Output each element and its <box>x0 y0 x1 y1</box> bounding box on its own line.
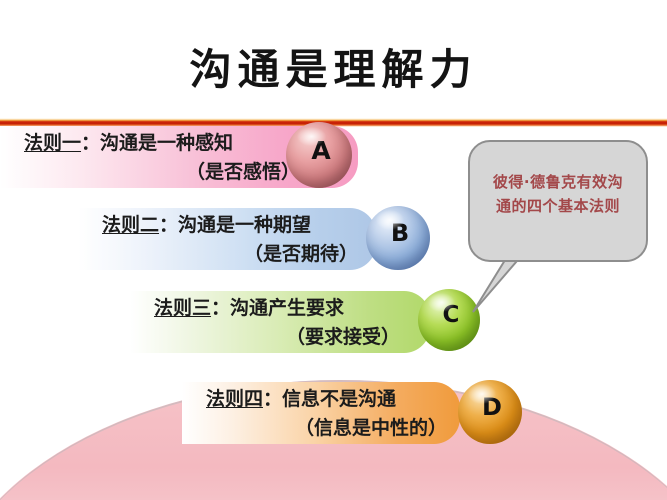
rule-sub-3: （要求接受） <box>154 323 404 352</box>
rule-statement-1: 法则一：沟通是一种感知 <box>24 129 304 158</box>
rule-statement-3: 法则三：沟通产生要求 <box>154 294 404 323</box>
rule-body-2: 沟通是一种期望 <box>178 214 311 236</box>
rule-label-2: 法则二 <box>102 214 159 236</box>
rule-sub-1: （是否感悟） <box>24 158 304 187</box>
sphere-d-letter: D <box>482 393 502 421</box>
rule-row-2: 法则二：沟通是一种期望 （是否期待） <box>78 208 378 270</box>
rule-sub-4: （信息是中性的） <box>206 414 451 443</box>
rule-text-2: 法则二：沟通是一种期望 （是否期待） <box>78 208 378 270</box>
rule-separator-2: ： <box>159 214 178 236</box>
rule-separator-4: ： <box>263 388 282 410</box>
rule-sub-2: （是否期待） <box>102 240 362 269</box>
rule-row-3: 法则三：沟通产生要求 （要求接受） <box>130 291 430 353</box>
callout-line-1: 彼得·德鲁克有效沟 <box>470 170 646 194</box>
rule-body-1: 沟通是一种感知 <box>100 132 233 154</box>
rule-statement-4: 法则四：信息不是沟通 <box>206 385 451 414</box>
rule-label-3: 法则三 <box>154 297 211 319</box>
rule-row-4: 法则四：信息不是沟通 （信息是中性的） <box>182 382 462 444</box>
rule-label-1: 法则一 <box>24 132 81 154</box>
sphere-a: A <box>286 122 352 188</box>
rule-separator-3: ： <box>211 297 230 319</box>
callout-text: 彼得·德鲁克有效沟 通的四个基本法则 <box>470 170 646 218</box>
slide-title: 沟通是理解力 <box>0 36 667 97</box>
sphere-d: D <box>458 380 522 444</box>
sphere-b: B <box>366 206 430 270</box>
rule-text-4: 法则四：信息不是沟通 （信息是中性的） <box>182 382 467 444</box>
slide-canvas: 沟通是理解力 法则一：沟通是一种感知 （是否感悟） A 法则二：沟通是一种期望 … <box>0 0 667 500</box>
sphere-b-letter: B <box>391 219 409 247</box>
callout-line-2: 通的四个基本法则 <box>470 194 646 218</box>
rule-body-3: 沟通产生要求 <box>230 297 344 319</box>
rule-text-3: 法则三：沟通产生要求 （要求接受） <box>130 291 420 353</box>
rule-separator-1: ： <box>81 132 100 154</box>
rule-statement-2: 法则二：沟通是一种期望 <box>102 211 362 240</box>
callout-box: 彼得·德鲁克有效沟 通的四个基本法则 <box>468 140 648 262</box>
rule-text-1: 法则一：沟通是一种感知 （是否感悟） <box>0 126 320 188</box>
sphere-a-letter: A <box>311 136 330 165</box>
rule-body-4: 信息不是沟通 <box>282 388 396 410</box>
rule-label-4: 法则四 <box>206 388 263 410</box>
